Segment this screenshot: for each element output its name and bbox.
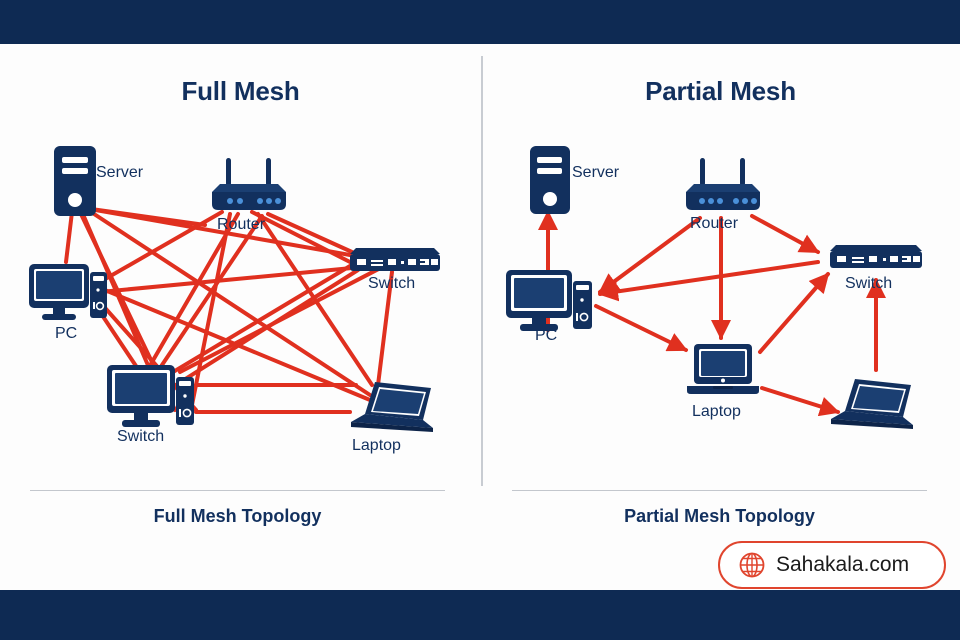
panel-divider [481, 56, 483, 486]
label-server-left: Server [96, 164, 143, 182]
label-laptop-left: Laptop [352, 437, 401, 455]
label-server-right: Server [572, 164, 619, 182]
node-server-right[interactable] [528, 144, 572, 221]
label-switch-pc-left: Switch [117, 428, 164, 446]
node-router-left[interactable] [206, 158, 292, 219]
laptop-front-icon [683, 342, 763, 398]
globe-icon [738, 551, 766, 579]
footer-rule-left [30, 490, 445, 491]
watermark-text: Sahakala.com [776, 553, 909, 577]
node-laptop-right[interactable] [825, 375, 917, 438]
label-laptop-center-right: Laptop [692, 403, 741, 421]
desktop-pc-icon [505, 268, 595, 334]
label-pc-right: PC [535, 327, 557, 345]
watermark-badge[interactable]: Sahakala.com [718, 541, 946, 589]
node-laptop-center-right[interactable] [683, 342, 763, 403]
panel-title-full-mesh: Full Mesh [0, 76, 481, 107]
node-switch-pc-left[interactable] [106, 363, 196, 436]
node-switch-right[interactable] [828, 243, 924, 278]
wireless-router-icon [206, 158, 292, 214]
server-tower-icon [528, 144, 572, 216]
label-router-left: Router [217, 216, 265, 234]
footer-label-partial-mesh: Partial Mesh Topology [512, 506, 927, 527]
node-router-right[interactable] [680, 158, 766, 219]
label-switch-right: Switch [845, 275, 892, 293]
label-switch-top-left: Switch [368, 275, 415, 293]
bottom-banner-bar [0, 590, 960, 640]
label-router-right: Router [690, 215, 738, 233]
network-switch-icon [828, 243, 924, 273]
footer-rule-right [512, 490, 927, 491]
desktop-pc-icon [106, 363, 196, 431]
top-banner-bar [0, 0, 960, 44]
wireless-router-icon [680, 158, 766, 214]
node-laptop-left[interactable] [345, 378, 437, 441]
label-pc-left: PC [55, 325, 77, 343]
panel-title-partial-mesh: Partial Mesh [481, 76, 960, 107]
node-pc-left[interactable] [28, 262, 108, 329]
footer-label-full-mesh: Full Mesh Topology [30, 506, 445, 527]
node-server-left[interactable] [52, 144, 98, 223]
network-switch-icon [348, 246, 442, 276]
laptop-angled-icon [825, 375, 917, 433]
desktop-pc-icon [28, 262, 108, 324]
server-tower-icon [52, 144, 98, 218]
laptop-angled-icon [345, 378, 437, 436]
